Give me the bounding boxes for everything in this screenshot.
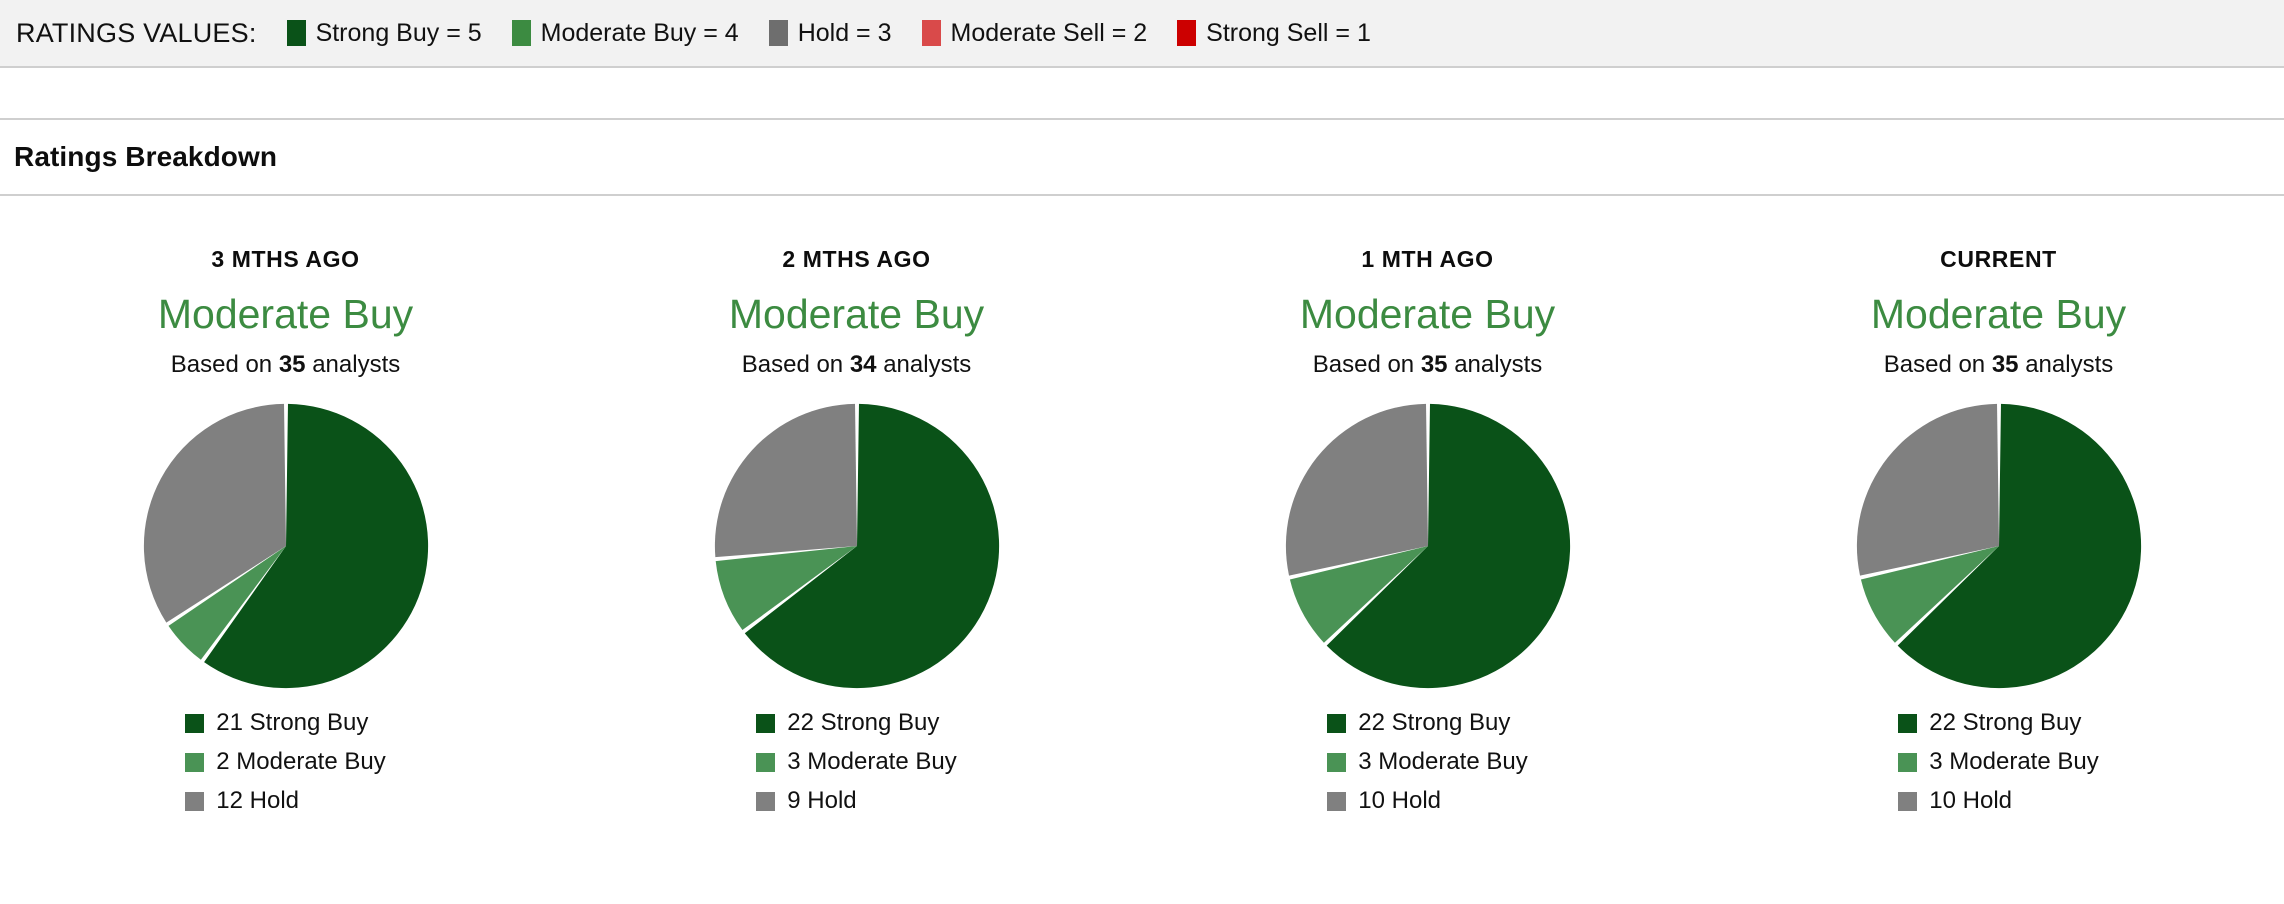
page-title: Ratings Breakdown [14, 141, 277, 173]
pie-legend: 21 Strong Buy 2 Moderate Buy 12 Hold [185, 709, 385, 826]
legend-item-strong-buy: 22 Strong Buy [1327, 709, 1510, 737]
pie-chart-container [1283, 401, 1573, 691]
square-swatch-icon [756, 714, 775, 733]
square-swatch-icon [1327, 753, 1346, 772]
ratings-value-label: Strong Sell = 1 [1206, 19, 1371, 48]
breakdown-column-1-mth-ago: 1 MTH AGO Moderate Buy Based on 35 analy… [1142, 246, 1713, 826]
analyst-count: 35 [1421, 351, 1448, 378]
ratings-value-hold: Hold = 3 [769, 19, 892, 48]
consensus-rating: Moderate Buy [158, 293, 413, 336]
consensus-rating: Moderate Buy [1871, 293, 2126, 336]
legend-item-moderate-buy: 3 Moderate Buy [756, 748, 956, 776]
pie-slice [1856, 404, 1998, 576]
legend-item-label: 22 Strong Buy [787, 709, 939, 737]
ratings-value-label: Hold = 3 [798, 19, 892, 48]
legend-item-label: 10 Hold [1929, 787, 2012, 815]
breakdown-column-current: CURRENT Moderate Buy Based on 35 analyst… [1713, 246, 2284, 826]
analyst-basis-prefix: Based on [1313, 351, 1421, 378]
legend-item-strong-buy: 22 Strong Buy [1898, 709, 2081, 737]
breakdown-column-2-mths-ago: 2 MTHS AGO Moderate Buy Based on 34 anal… [571, 246, 1142, 826]
pie-legend: 22 Strong Buy 3 Moderate Buy 10 Hold [1327, 709, 1527, 826]
pie-legend: 22 Strong Buy 3 Moderate Buy 10 Hold [1898, 709, 2098, 826]
legend-item-moderate-buy: 3 Moderate Buy [1898, 748, 2098, 776]
legend-item-label: 10 Hold [1358, 787, 1441, 815]
legend-item-strong-buy: 22 Strong Buy [756, 709, 939, 737]
legend-item-hold: 10 Hold [1327, 787, 1441, 815]
analyst-basis-suffix: analysts [2019, 351, 2114, 378]
square-swatch-icon [1898, 714, 1917, 733]
pie-chart-container [712, 401, 1002, 691]
legend-item-hold: 10 Hold [1898, 787, 2012, 815]
period-label: 2 MTHS AGO [782, 246, 930, 273]
ratings-pie-chart [141, 401, 431, 691]
legend-item-moderate-buy: 3 Moderate Buy [1327, 748, 1527, 776]
ratings-pie-chart [712, 401, 1002, 691]
square-swatch-icon [1177, 20, 1196, 46]
analyst-basis-prefix: Based on [742, 351, 850, 378]
analyst-basis-suffix: analysts [306, 351, 401, 378]
analyst-basis-text: Based on 34 analysts [742, 351, 972, 379]
legend-item-hold: 12 Hold [185, 787, 299, 815]
ratings-pie-chart [1283, 401, 1573, 691]
pie-chart-container [141, 401, 431, 691]
legend-item-hold: 9 Hold [756, 787, 856, 815]
square-swatch-icon [756, 753, 775, 772]
square-swatch-icon [1327, 792, 1346, 811]
ratings-value-moderate-sell: Moderate Sell = 2 [922, 19, 1148, 48]
analyst-basis-suffix: analysts [1448, 351, 1543, 378]
analyst-count: 35 [1992, 351, 2019, 378]
legend-item-moderate-buy: 2 Moderate Buy [185, 748, 385, 776]
legend-item-label: 21 Strong Buy [216, 709, 368, 737]
ratings-values-legend: Strong Buy = 5 Moderate Buy = 4 Hold = 3… [287, 19, 1401, 48]
legend-item-label: 3 Moderate Buy [1358, 748, 1527, 776]
pie-slice [714, 404, 856, 557]
analyst-basis-prefix: Based on [171, 351, 279, 378]
square-swatch-icon [1898, 792, 1917, 811]
legend-item-label: 3 Moderate Buy [1929, 748, 2098, 776]
analyst-basis-text: Based on 35 analysts [171, 351, 401, 379]
legend-item-label: 12 Hold [216, 787, 299, 815]
pie-slice [1285, 404, 1427, 576]
analyst-basis-text: Based on 35 analysts [1313, 351, 1543, 379]
square-swatch-icon [185, 792, 204, 811]
period-label: 1 MTH AGO [1361, 246, 1493, 273]
ratings-value-label: Moderate Buy = 4 [541, 19, 739, 48]
square-swatch-icon [1898, 753, 1917, 772]
ratings-breakdown-heading-row: Ratings Breakdown [0, 120, 2284, 194]
period-label: CURRENT [1940, 246, 2057, 273]
square-swatch-icon [756, 792, 775, 811]
ratings-value-label: Moderate Sell = 2 [951, 19, 1148, 48]
analyst-count: 34 [850, 351, 877, 378]
ratings-value-strong-buy: Strong Buy = 5 [287, 19, 482, 48]
square-swatch-icon [185, 753, 204, 772]
analyst-basis-prefix: Based on [1884, 351, 1992, 378]
spacer-band [0, 68, 2284, 118]
legend-item-label: 22 Strong Buy [1358, 709, 1510, 737]
ratings-value-moderate-buy: Moderate Buy = 4 [512, 19, 739, 48]
analyst-basis-text: Based on 35 analysts [1884, 351, 2114, 379]
ratings-value-strong-sell: Strong Sell = 1 [1177, 19, 1371, 48]
square-swatch-icon [185, 714, 204, 733]
square-swatch-icon [922, 20, 941, 46]
legend-item-label: 22 Strong Buy [1929, 709, 2081, 737]
ratings-values-title: RATINGS VALUES: [16, 18, 257, 49]
breakdown-column-3-mths-ago: 3 MTHS AGO Moderate Buy Based on 35 anal… [0, 246, 571, 826]
square-swatch-icon [287, 20, 306, 46]
legend-item-strong-buy: 21 Strong Buy [185, 709, 368, 737]
square-swatch-icon [769, 20, 788, 46]
square-swatch-icon [1327, 714, 1346, 733]
analyst-count: 35 [279, 351, 306, 378]
analyst-basis-suffix: analysts [877, 351, 972, 378]
consensus-rating: Moderate Buy [1300, 293, 1555, 336]
legend-item-label: 2 Moderate Buy [216, 748, 385, 776]
ratings-value-label: Strong Buy = 5 [316, 19, 482, 48]
consensus-rating: Moderate Buy [729, 293, 984, 336]
ratings-values-bar: RATINGS VALUES: Strong Buy = 5 Moderate … [0, 0, 2284, 68]
ratings-pie-chart [1854, 401, 2144, 691]
period-label: 3 MTHS AGO [211, 246, 359, 273]
legend-item-label: 9 Hold [787, 787, 856, 815]
ratings-breakdown-columns: 3 MTHS AGO Moderate Buy Based on 35 anal… [0, 196, 2284, 826]
legend-item-label: 3 Moderate Buy [787, 748, 956, 776]
square-swatch-icon [512, 20, 531, 46]
pie-chart-container [1854, 401, 2144, 691]
pie-legend: 22 Strong Buy 3 Moderate Buy 9 Hold [756, 709, 956, 826]
